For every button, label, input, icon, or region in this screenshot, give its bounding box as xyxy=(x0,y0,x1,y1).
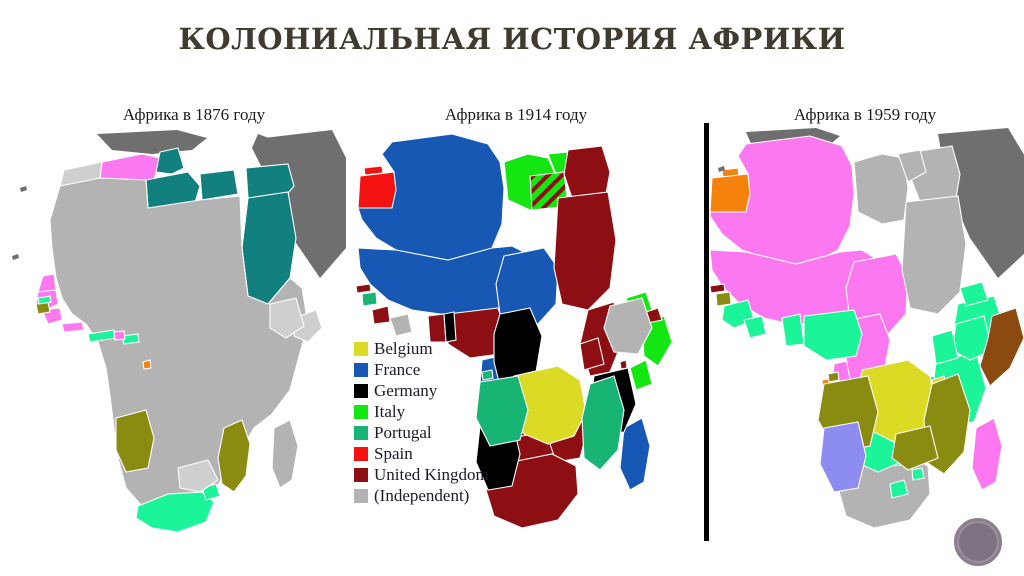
panel-divider xyxy=(704,123,709,541)
region-gambia-1914 xyxy=(356,284,371,293)
region-ifni-1914 xyxy=(364,166,383,175)
region-madagascar-1876 xyxy=(272,420,298,488)
region-sierra-leone-1876 xyxy=(38,296,51,304)
region-sudan-1914 xyxy=(554,192,616,310)
legend-swatch-independent xyxy=(354,489,368,503)
legend-label-independent: (Independent) xyxy=(374,487,469,504)
region-gambia-1959 xyxy=(710,284,725,293)
region-angola-1876 xyxy=(116,410,154,472)
legend-item-france: France xyxy=(354,359,526,380)
region-spanish-sahara-1959 xyxy=(710,174,750,212)
region-togo-dahomey-1876 xyxy=(114,331,125,340)
legend-label-italy: Italy xyxy=(374,403,405,420)
legend-item-germany: Germany xyxy=(354,380,526,401)
map-legend: Belgium France Germany Italy Portugal Sp… xyxy=(354,338,526,506)
legend-item-united-kingdom: United Kingdom xyxy=(354,464,526,485)
region-liberia-1914 xyxy=(390,314,412,336)
region-europe xyxy=(97,130,207,154)
legend-label-spain: Spain xyxy=(374,445,413,462)
legend-label-france: France xyxy=(374,361,420,378)
legend-swatch-france xyxy=(354,363,368,377)
legend-swatch-united-kingdom xyxy=(354,468,368,482)
region-rio-de-oro-1914 xyxy=(358,172,396,208)
region-benadir-1914 xyxy=(630,360,652,390)
slide-canvas: КОЛОНИАЛЬНАЯ ИСТОРИЯ АФРИКИ Африка в 187… xyxy=(0,0,1024,576)
region-liberia-1959 xyxy=(744,316,766,338)
legend-swatch-germany xyxy=(354,384,368,398)
region-ghana-1959 xyxy=(782,314,804,346)
region-south-west-africa-1959 xyxy=(820,422,866,492)
panel-caption-1914: Африка в 1914 году xyxy=(330,105,702,125)
map-africa-1876 xyxy=(2,128,346,548)
region-cape-verde-1876 xyxy=(12,254,19,260)
region-zanzibar-1914 xyxy=(620,360,627,369)
legend-swatch-italy xyxy=(354,405,368,419)
legend-item-spain: Spain xyxy=(354,443,526,464)
region-portuguese-guinea-1914 xyxy=(362,292,377,306)
region-fernando-po-1876 xyxy=(143,360,151,369)
region-ottoman-tunisia-1876 xyxy=(156,148,184,174)
region-nigeria-1959 xyxy=(804,310,862,360)
legend-label-portugal: Portugal xyxy=(374,424,432,441)
legend-item-italy: Italy xyxy=(354,401,526,422)
legend-swatch-portugal xyxy=(354,426,368,440)
watermark-inner-ring xyxy=(957,521,999,563)
panel-caption-1959: Африка в 1959 году xyxy=(706,105,1024,125)
legend-label-united-kingdom: United Kingdom xyxy=(374,466,489,483)
legend-item-portugal: Portugal xyxy=(354,422,526,443)
region-sudan-1959 xyxy=(902,196,966,314)
map-africa-1959 xyxy=(708,128,1024,548)
legend-swatch-spain xyxy=(354,447,368,461)
region-ottoman-tripoli-1876 xyxy=(200,170,238,200)
legend-swatch-belgium xyxy=(354,342,368,356)
page-title: КОЛОНИАЛЬНАЯ ИСТОРИЯ АФРИКИ xyxy=(0,22,1024,56)
region-mozambique-1914 xyxy=(582,376,624,470)
region-swaziland-1959 xyxy=(912,468,924,480)
region-egypt-1914 xyxy=(564,146,610,198)
watermark-logo xyxy=(954,518,1002,566)
region-sierra-leone-1914 xyxy=(372,306,390,324)
region-libya-1959 xyxy=(854,154,908,224)
region-madagascar-1959 xyxy=(972,418,1002,490)
region-canary-islands-1876 xyxy=(20,186,27,192)
legend-label-germany: Germany xyxy=(374,382,437,399)
region-portuguese-guinea-1959 xyxy=(716,292,731,306)
legend-item-belgium: Belgium xyxy=(354,338,526,359)
region-cabinda-1959 xyxy=(828,372,839,382)
legend-label-belgium: Belgium xyxy=(374,340,433,357)
legend-item-independent: (Independent) xyxy=(354,485,526,506)
region-gambia-strip-1876 xyxy=(62,322,84,332)
